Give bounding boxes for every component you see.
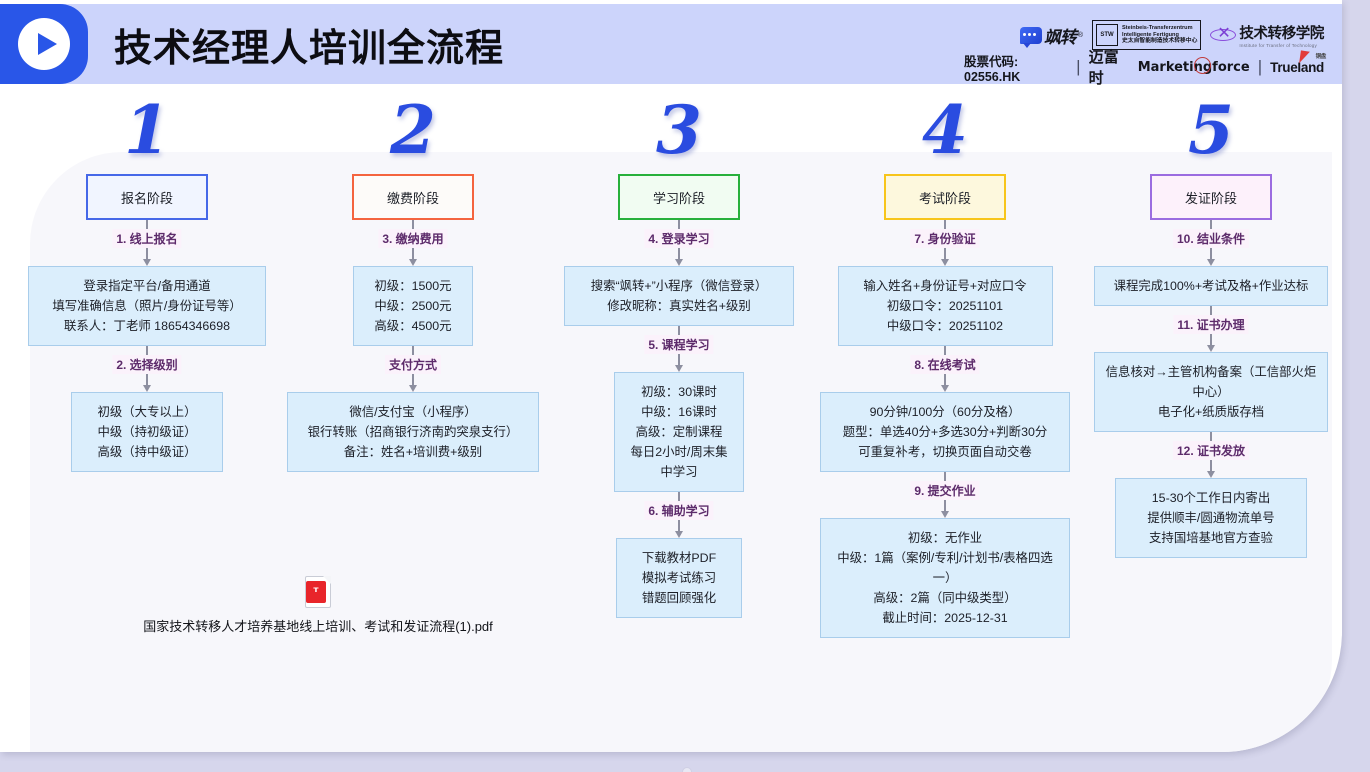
pdf-file-icon[interactable]: ᵀ (305, 576, 331, 608)
info-box[interactable]: 初级（大专以上）中级（持初级证）高级（持中级证） (71, 392, 223, 472)
info-line: 模拟考试练习 (627, 568, 731, 588)
arrow-head (675, 365, 683, 372)
info-line: 错题回顾强化 (627, 588, 731, 608)
page-root: 技术经理人培训全流程 飒转 ® STW Steinbeis-Transferze… (0, 0, 1370, 772)
stage-box-5[interactable]: 发证阶段 (1150, 174, 1272, 220)
info-line: 登录指定平台/备用通道 (39, 276, 255, 296)
connector-label: 3. 缴纳费用 (378, 229, 447, 248)
info-box[interactable]: 输入姓名+身份证号+对应口令初级口令：20251101中级口令：20251102 (838, 266, 1053, 346)
info-line: 初级：1500元 (364, 276, 462, 296)
stage-box-4[interactable]: 考试阶段 (884, 174, 1006, 220)
connector-arrow: 6. 辅助学习 (546, 492, 812, 538)
info-line: 初级（大专以上） (82, 402, 212, 422)
info-line: 可重复补考，切换页面自动交卷 (831, 442, 1059, 462)
info-line: 15-30个工作日内寄出 (1126, 488, 1296, 508)
info-line: 下载教材PDF (627, 548, 731, 568)
arrow-head (409, 259, 417, 266)
connector-label: 8. 在线考试 (910, 355, 979, 374)
info-line: 联系人：丁老师 18654346698 (39, 316, 255, 336)
academy-name-cn: 技术转移学院 (1239, 22, 1324, 43)
connector-label: 4. 登录学习 (644, 229, 713, 248)
info-box[interactable]: 初级：1500元中级：2500元高级：4500元 (353, 266, 473, 346)
info-box[interactable]: 初级：30课时中级：16课时高级：定制课程每日2小时/周末集中学习 (614, 372, 744, 492)
connector-arrow: 11. 证书办理 (1078, 306, 1342, 352)
flow-column-2: 2缴费阶段3. 缴纳费用初级：1500元中级：2500元高级：4500元支付方式… (280, 100, 546, 752)
info-line: 微信/支付宝（小程序） (298, 402, 528, 422)
info-line: 中级：1篇（案例/专利/计划书/表格四选一） (831, 548, 1059, 588)
marketingforce-wordmark: Marketingforce (1138, 60, 1250, 75)
info-box[interactable]: 初级：无作业中级：1篇（案例/专利/计划书/表格四选一）高级：2篇（同中级类型）… (820, 518, 1070, 638)
fanzhuan-logo: 飒转 ® (1020, 23, 1083, 48)
connector-label: 12. 证书发放 (1173, 441, 1249, 460)
trueland-wordmark: TrueIand 铜盘 (1270, 60, 1324, 75)
orbit-x-glyph: ✕ (1217, 26, 1230, 42)
info-line: 初级：无作业 (831, 528, 1059, 548)
sailboat-icon (1299, 50, 1310, 64)
info-line: 初级口令：20251101 (849, 296, 1042, 316)
connector-label: 支付方式 (385, 355, 441, 374)
info-box[interactable]: 登录指定平台/备用通道填写准确信息（照片/身份证号等）联系人：丁老师 18654… (28, 266, 266, 346)
flow-column-5: 5发证阶段10. 结业条件课程完成100%+考试及格+作业达标11. 证书办理信… (1078, 100, 1342, 752)
info-line: 提供顺丰/圆通物流单号 (1126, 508, 1296, 528)
brand-logo-row-primary: 飒转 ® STW Steinbeis-Transferzentrum Intel… (1020, 18, 1324, 52)
arrow-head (143, 385, 151, 392)
info-line: 支持国培基地官方查验 (1126, 528, 1296, 548)
play-triangle-shape (38, 33, 57, 55)
arrow-head (409, 385, 417, 392)
info-box[interactable]: 下载教材PDF模拟考试练习错题回顾强化 (616, 538, 742, 618)
info-line: 初级：30课时 (625, 382, 733, 402)
info-line: 高级：4500元 (364, 316, 462, 336)
flow-column-1: 1报名阶段1. 线上报名登录指定平台/备用通道填写准确信息（照片/身份证号等）联… (14, 100, 280, 752)
connector-arrow: 2. 选择级别 (14, 346, 280, 392)
arrow-head (941, 259, 949, 266)
document-sheet: 技术经理人培训全流程 飒转 ® STW Steinbeis-Transferze… (0, 0, 1342, 752)
brand-logos: 飒转 ® STW Steinbeis-Transferzentrum Intel… (964, 12, 1324, 84)
connector-arrow: 8. 在线考试 (812, 346, 1078, 392)
connector-arrow: 3. 缴纳费用 (280, 220, 546, 266)
connector-label: 7. 身份验证 (910, 229, 979, 248)
info-line: 填写准确信息（照片/身份证号等） (39, 296, 255, 316)
info-box[interactable]: 15-30个工作日内寄出提供顺丰/圆通物流单号支持国培基地官方查验 (1115, 478, 1307, 558)
academy-name-en: Institute for Transfer of Technology (1239, 43, 1324, 48)
academy-orbit-icon: ✕ (1210, 22, 1236, 48)
connector-label: 6. 辅助学习 (644, 501, 713, 520)
stage-number: 2 (390, 100, 436, 162)
info-line: 输入姓名+身份证号+对应口令 (849, 276, 1042, 296)
arrow-head (1207, 259, 1215, 266)
info-line: 高级：2篇（同中级类型） (831, 588, 1059, 608)
info-line: 中级：2500元 (364, 296, 462, 316)
connector-arrow: 9. 提交作业 (812, 472, 1078, 518)
connector-label: 9. 提交作业 (910, 481, 979, 500)
info-box[interactable]: 微信/支付宝（小程序）银行转账（招商银行济南趵突泉支行）备注：姓名+培训费+级别 (287, 392, 539, 472)
stage-number: 5 (1188, 100, 1234, 162)
page-title: 技术经理人培训全流程 (114, 17, 504, 72)
connector-label: 2. 选择级别 (112, 355, 181, 374)
info-line: 银行转账（招商银行济南趵突泉支行） (298, 422, 528, 442)
connector-arrow: 7. 身份验证 (812, 220, 1078, 266)
info-line: 信息核对→主管机构备案（工信部火炬中心） (1105, 362, 1317, 402)
info-line: 每日2小时/周末集中学习 (625, 442, 733, 482)
fanzhuan-wordmark: 飒转 (1044, 23, 1076, 48)
info-line: 高级（持中级证） (82, 442, 212, 462)
info-line: 高级：定制课程 (625, 422, 733, 442)
connector-arrow: 1. 线上报名 (14, 220, 280, 266)
arrow-head (941, 511, 949, 518)
steinbeis-line-1: Steinbeis-Transferzentrum (1122, 25, 1197, 32)
connector-label: 11. 证书办理 (1173, 315, 1248, 334)
pdf-filename-label[interactable]: 国家技术转移人才培养基地线上培训、考试和发证流程(1).pdf (143, 616, 493, 635)
connector-arrow: 12. 证书发放 (1078, 432, 1342, 478)
stock-code-label: 股票代码: 02556.HK (964, 51, 1068, 84)
stage-box-3[interactable]: 学习阶段 (618, 174, 740, 220)
stage-box-2[interactable]: 缴费阶段 (352, 174, 474, 220)
pdf-attachment[interactable]: ᵀ 国家技术转移人才培养基地线上培训、考试和发证流程(1).pdf (128, 576, 508, 635)
divider: | (1076, 57, 1080, 77)
info-box[interactable]: 搜索“飒转+”小程序（微信登录）修改昵称：真实姓名+级别 (564, 266, 794, 326)
header-logo-badge (0, 4, 88, 84)
connector-arrow: 支付方式 (280, 346, 546, 392)
stage-number: 1 (124, 100, 170, 162)
arrow-head (675, 531, 683, 538)
bubble-dots-icon (1023, 33, 1036, 36)
brand-logo-row-secondary: 股票代码: 02556.HK | 迈富时 Marketingforce | Tr… (964, 56, 1324, 78)
flow-column-3: 3学习阶段4. 登录学习搜索“飒转+”小程序（微信登录）修改昵称：真实姓名+级别… (546, 100, 812, 752)
info-line: 中级（持初级证） (82, 422, 212, 442)
flow-columns: 1报名阶段1. 线上报名登录指定平台/备用通道填写准确信息（照片/身份证号等）联… (14, 100, 1342, 752)
info-box[interactable]: 90分钟/100分（60分及格）题型：单选40分+多选30分+判断30分可重复补… (820, 392, 1070, 472)
transfer-academy-logo: ✕ 技术转移学院 Institute for Transfer of Techn… (1210, 22, 1324, 48)
connector-arrow: 10. 结业条件 (1078, 220, 1342, 266)
connector-arrow: 4. 登录学习 (546, 220, 812, 266)
arrow-head (143, 259, 151, 266)
info-box[interactable]: 信息核对→主管机构备案（工信部火炬中心）电子化+纸质版存档 (1094, 352, 1328, 432)
pdf-glyph: ᵀ (306, 581, 326, 603)
globe-icon (1194, 57, 1211, 74)
connector-arrow: 5. 课程学习 (546, 326, 812, 372)
steinbeis-mark-icon: STW (1096, 24, 1118, 46)
arrow-head (1207, 345, 1215, 352)
arrow-head (675, 259, 683, 266)
connector-label: 5. 课程学习 (644, 335, 713, 354)
speech-bubble-icon (1020, 27, 1042, 44)
stage-number: 4 (922, 100, 968, 162)
connector-label: 10. 结业条件 (1173, 229, 1249, 248)
page-edge-dot-bottom (682, 767, 692, 772)
steinbeis-line-cn: 史太自智能制造技术转移中心 (1122, 38, 1197, 45)
academy-text-block: 技术转移学院 Institute for Transfer of Technol… (1239, 22, 1324, 48)
arrow-head (941, 385, 949, 392)
info-line: 搜索“飒转+”小程序（微信登录） (575, 276, 783, 296)
info-box[interactable]: 课程完成100%+考试及格+作业达标 (1094, 266, 1328, 306)
info-line: 电子化+纸质版存档 (1105, 402, 1317, 422)
stage-box-1[interactable]: 报名阶段 (86, 174, 208, 220)
maifushi-wordmark: 迈富时 (1089, 46, 1130, 88)
registered-mark: ® (1078, 32, 1083, 39)
arrow-head (1207, 471, 1215, 478)
info-line: 修改昵称：真实姓名+级别 (575, 296, 783, 316)
info-line: 课程完成100%+考试及格+作业达标 (1105, 276, 1317, 296)
flow-column-4: 4考试阶段7. 身份验证输入姓名+身份证号+对应口令初级口令：20251101中… (812, 100, 1078, 752)
play-button-icon (18, 18, 70, 70)
stage-number: 3 (656, 100, 702, 162)
info-line: 中级口令：20251102 (849, 316, 1042, 336)
info-line: 90分钟/100分（60分及格） (831, 402, 1059, 422)
info-line: 备注：姓名+培训费+级别 (298, 442, 528, 462)
info-line: 中级：16课时 (625, 402, 733, 422)
divider: | (1258, 57, 1262, 77)
info-line: 题型：单选40分+多选30分+判断30分 (831, 422, 1059, 442)
page-header: 技术经理人培训全流程 飒转 ® STW Steinbeis-Transferze… (0, 4, 1342, 84)
steinbeis-text-block: Steinbeis-Transferzentrum Intelligente F… (1122, 25, 1197, 45)
connector-label: 1. 线上报名 (112, 229, 181, 248)
trueland-text: TrueIand (1270, 60, 1324, 75)
info-line: 截止时间：2025-12-31 (831, 608, 1059, 628)
trueland-cn-text: 铜盘 (1316, 52, 1326, 60)
